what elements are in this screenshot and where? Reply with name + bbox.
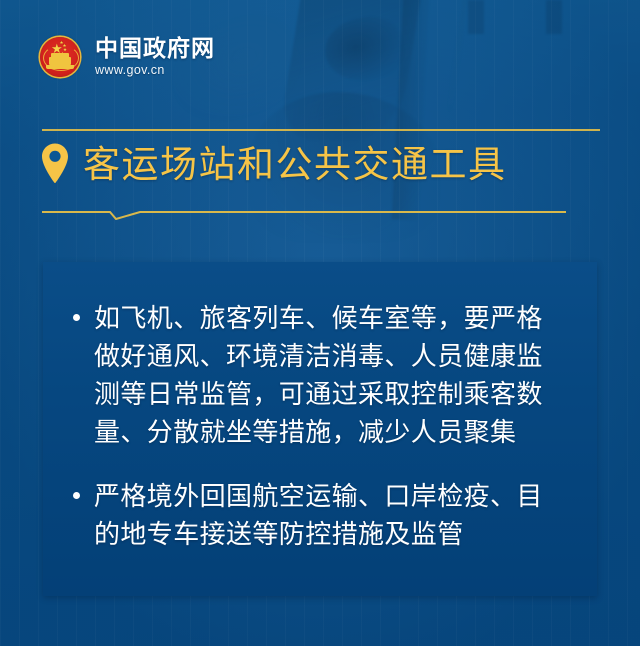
- infographic-page: ★ ★ ★ ★ ★ 中国政府网 www.gov.cn 客运场站和公共交通工具: [0, 0, 640, 646]
- site-url: www.gov.cn: [95, 63, 215, 77]
- emblem-base: [46, 65, 74, 69]
- bullet-text: 如飞机、旅客列车、候车室等，要严格做好通风、环境清洁消毒、人员健康监测等日常监管…: [94, 300, 567, 452]
- title-rule-bottom: [42, 206, 566, 220]
- site-brand: ★ ★ ★ ★ ★ 中国政府网 www.gov.cn: [40, 36, 215, 77]
- list-item: 如飞机、旅客列车、候车室等，要严格做好通风、环境清洁消毒、人员健康监测等日常监管…: [69, 300, 567, 452]
- content-card: 如飞机、旅客列车、候车室等，要严格做好通风、环境清洁消毒、人员健康监测等日常监管…: [43, 262, 597, 596]
- brand-text-block: 中国政府网 www.gov.cn: [95, 36, 215, 77]
- title-rule-top: [42, 129, 600, 131]
- bullet-text: 严格境外回国航空运输、口岸检疫、目的地专车接送等防控措施及监管: [94, 478, 567, 554]
- emblem-tiananmen-gate: [49, 57, 71, 65]
- page-title: 客运场站和公共交通工具: [83, 146, 507, 183]
- bullet-list: 如飞机、旅客列车、候车室等，要严格做好通风、环境清洁消毒、人员健康监测等日常监管…: [43, 262, 597, 554]
- background-photo-bar-left: [468, 0, 484, 34]
- bullet-dot-icon: [73, 314, 80, 321]
- location-pin-icon: [40, 142, 70, 186]
- bullet-dot-icon: [73, 492, 80, 499]
- list-item: 严格境外回国航空运输、口岸检疫、目的地专车接送等防控措施及监管: [69, 478, 567, 554]
- title-row: 客运场站和公共交通工具: [40, 142, 507, 186]
- site-name: 中国政府网: [95, 36, 215, 60]
- background-photo-bar-right: [546, 0, 562, 34]
- china-national-emblem-icon: ★ ★ ★ ★ ★: [40, 37, 80, 77]
